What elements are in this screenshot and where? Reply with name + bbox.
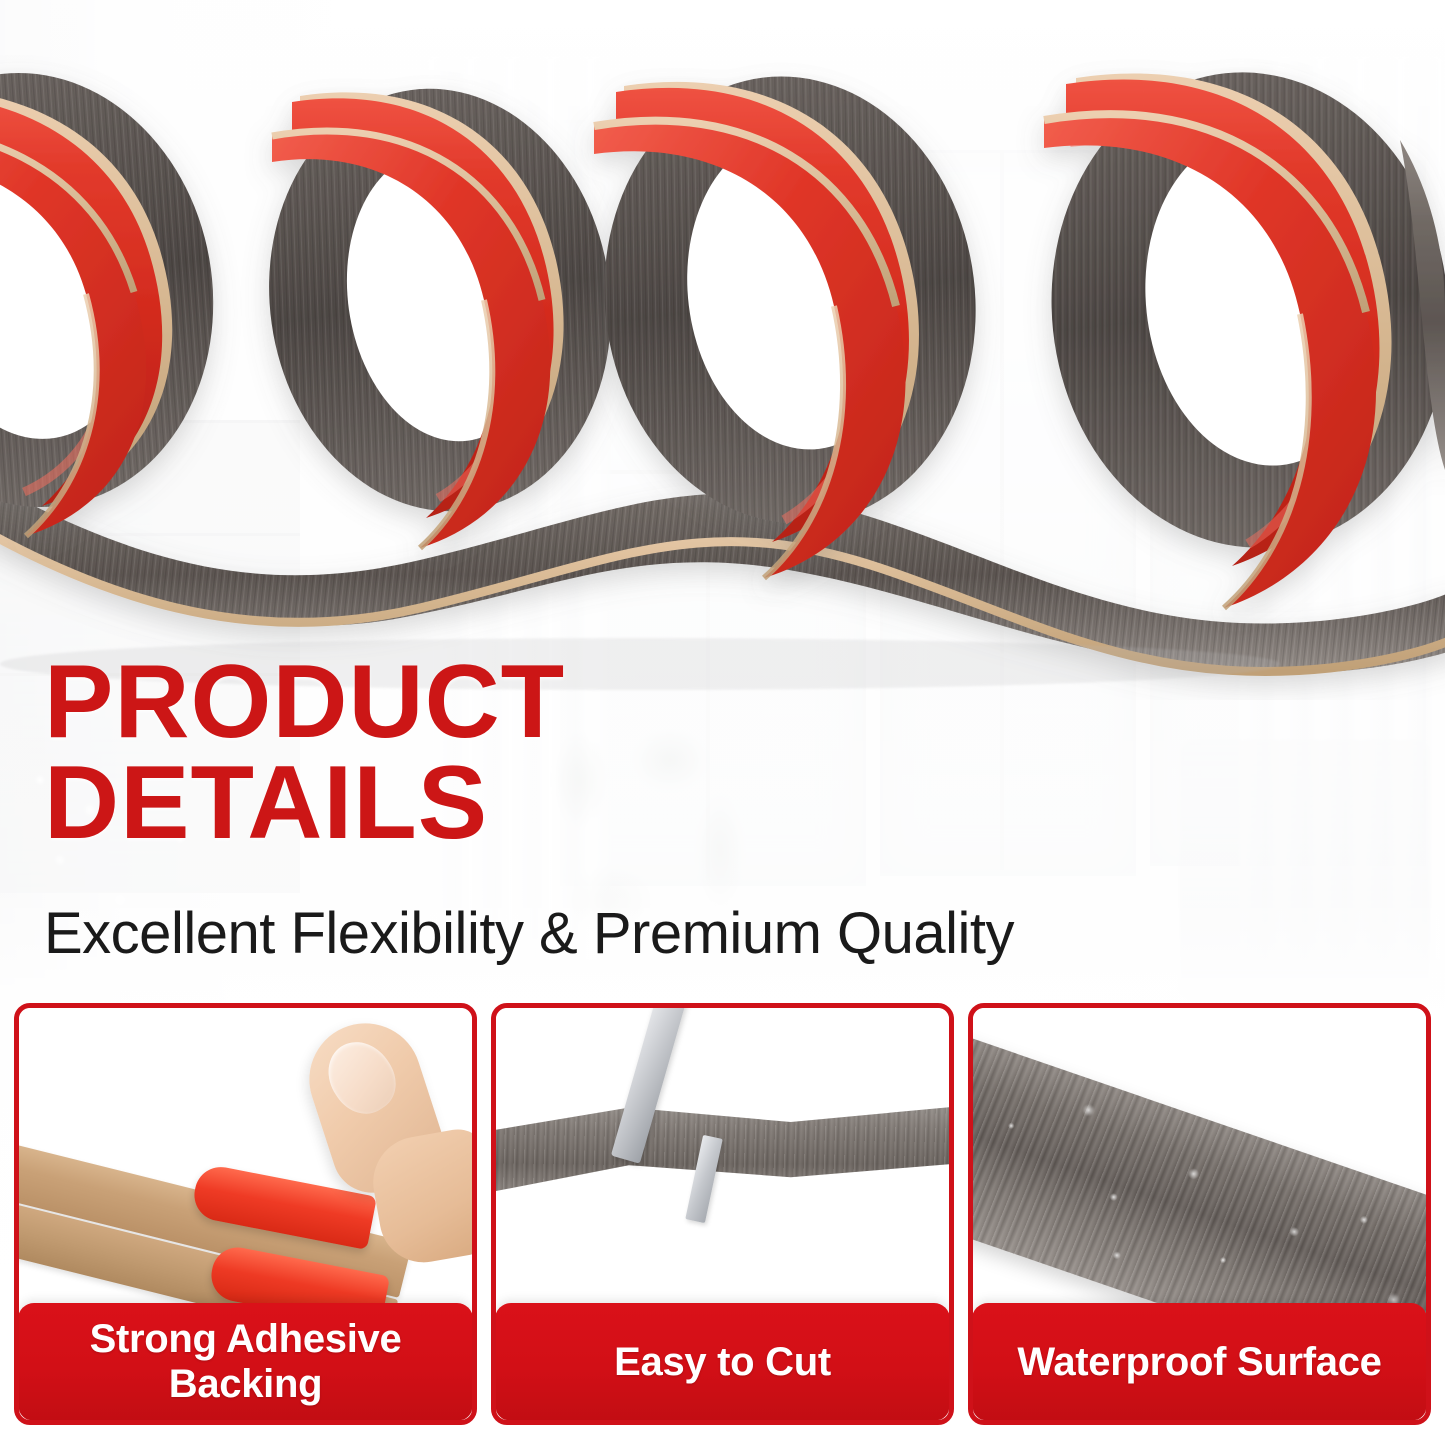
feature-card-easy-to-cut: Easy to Cut	[491, 1003, 954, 1425]
feature-caption-waterproof: Waterproof Surface	[1007, 1340, 1391, 1385]
headline-line-1: PRODUCT	[44, 652, 1244, 753]
coil-loop-2	[242, 66, 638, 548]
coil-loop-3	[579, 55, 1001, 578]
product-details-poster: PRODUCT DETAILS Excellent Flexibility & …	[0, 0, 1445, 1445]
feature-card-adhesive: Strong Adhesive Backing	[14, 1003, 477, 1425]
page-title: PRODUCT DETAILS	[44, 652, 1244, 854]
woodgrain-trim-bent	[496, 1098, 949, 1218]
feature-caption-adhesive: Strong Adhesive Backing	[18, 1317, 473, 1407]
feature-banner-easy-to-cut: Easy to Cut	[495, 1303, 950, 1421]
feature-banner-adhesive: Strong Adhesive Backing	[18, 1303, 473, 1421]
headline-line-2: DETAILS	[44, 753, 1244, 854]
fingernail	[315, 1029, 408, 1125]
feature-caption-easy-to-cut: Easy to Cut	[604, 1340, 841, 1385]
coil-loop-4	[1028, 53, 1445, 608]
feature-banner-waterproof: Waterproof Surface	[972, 1303, 1427, 1421]
feature-card-row: Strong Adhesive Backing Easy to Cut	[14, 1003, 1431, 1425]
hero-coiled-trim-tape	[0, 0, 1445, 700]
feature-card-waterproof: Waterproof Surface	[968, 1003, 1431, 1425]
hand-illustration	[318, 1022, 472, 1262]
coil-loop-1	[0, 44, 247, 537]
coil-illustration	[0, 0, 1445, 700]
page-subtitle: Excellent Flexibility & Premium Quality	[44, 902, 1014, 966]
woodgrain-strip	[496, 1098, 949, 1218]
